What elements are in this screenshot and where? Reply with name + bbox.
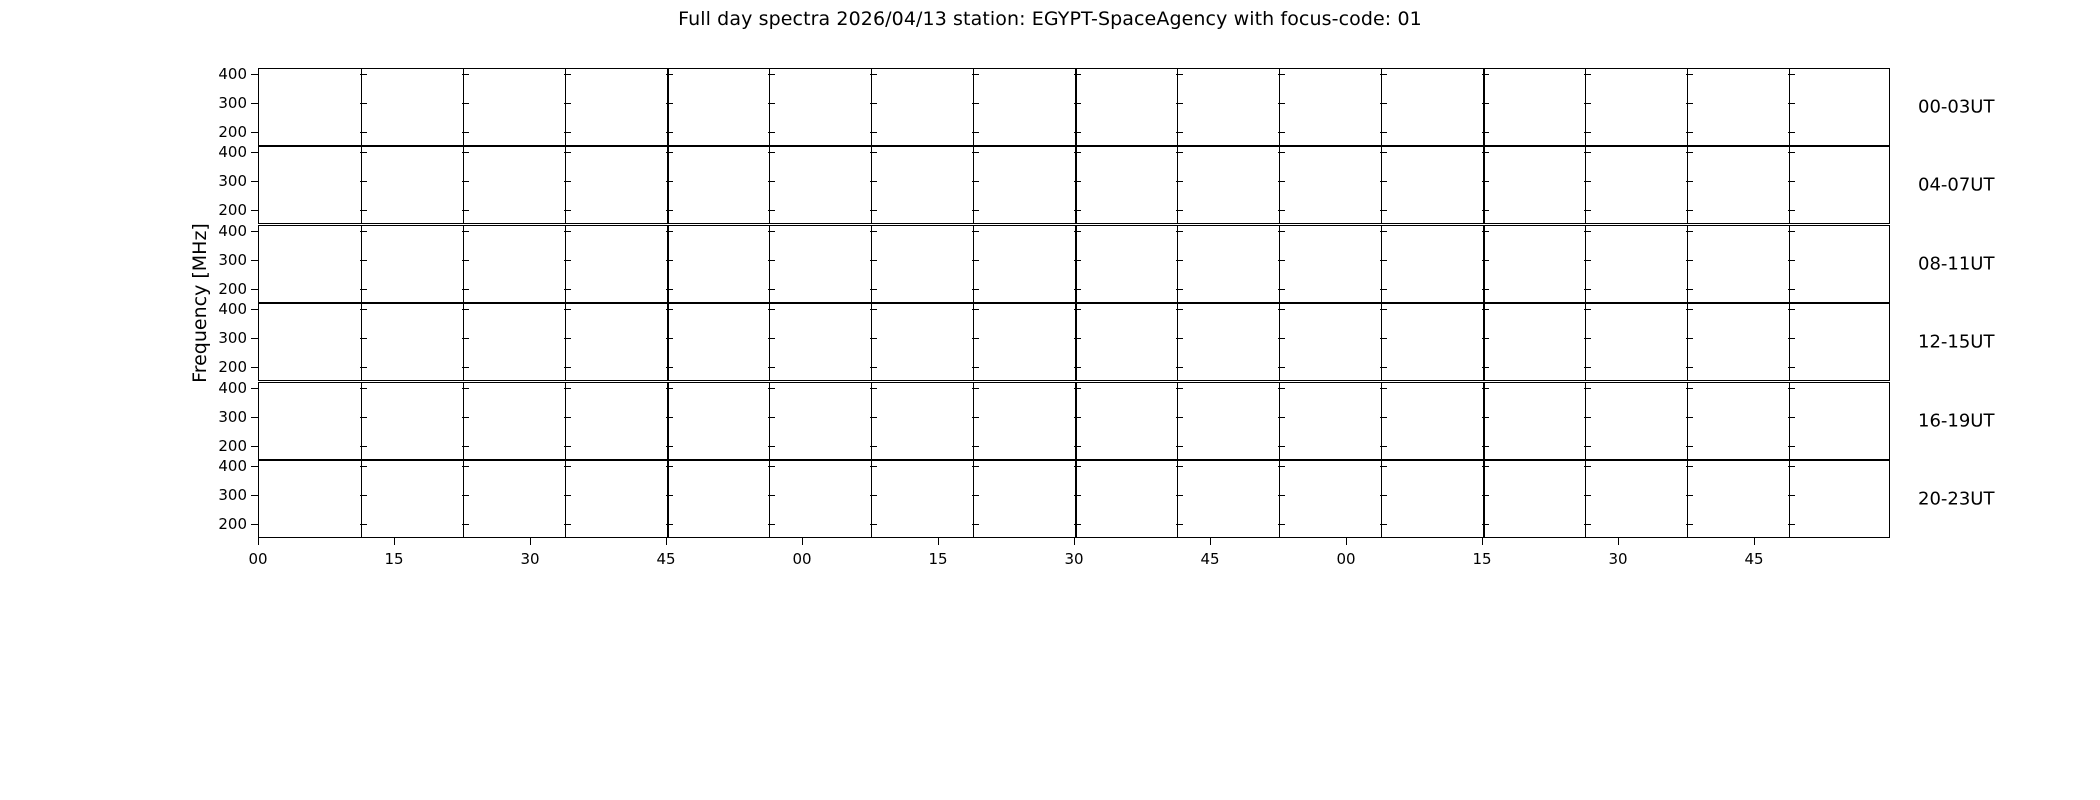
y-tick-inner [1176,495,1183,496]
spectrogram-row-16-19ut: 40030020016-19UT [258,382,1890,460]
y-tick-inner [768,446,775,447]
x-tick-mark [1074,538,1075,545]
y-tick-mark [251,388,258,389]
y-tick-inner [564,446,571,447]
cell-separator [1585,461,1586,537]
y-tick-inner [870,338,877,339]
x-tick-mark [530,538,531,545]
x-tick-label: 45 [656,550,675,568]
y-tick-inner [1074,466,1081,467]
cell-separator [871,383,872,459]
cell-separator [361,226,362,302]
y-tick-inner [1380,495,1387,496]
y-tick-inner [768,495,775,496]
cell-separator [973,147,974,223]
y-tick-inner [1074,417,1081,418]
y-tick-inner [1176,132,1183,133]
y-tick-inner [1380,338,1387,339]
y-tick-inner [1482,152,1489,153]
y-tick-inner [1074,446,1081,447]
cell-separator [1279,304,1280,380]
row-plot-area[interactable] [258,146,1890,224]
cell-separator [463,461,464,537]
cell-separator [667,226,669,302]
y-tick-inner [1278,367,1285,368]
y-tick-inner [666,132,673,133]
y-tick-inner [1278,446,1285,447]
cell-separator [463,147,464,223]
cell-separator [973,383,974,459]
y-tick-inner [1584,338,1591,339]
y-tick-inner [1278,338,1285,339]
y-tick-inner [1074,309,1081,310]
y-tick-inner [564,152,571,153]
y-tick-inner [462,231,469,232]
y-tick-label: 300 [218,329,247,347]
y-tick-inner [462,495,469,496]
y-tick-inner [666,466,673,467]
cell-separator [463,304,464,380]
y-tick-label: 400 [218,222,247,240]
y-tick-mark [251,152,258,153]
cell-separator [1789,147,1790,223]
y-tick-inner [1788,132,1795,133]
cell-separator [1075,461,1077,537]
y-tick-inner [1176,210,1183,211]
y-tick-inner [870,417,877,418]
cell-separator [667,147,669,223]
y-tick-inner [870,74,877,75]
y-tick-inner [1482,260,1489,261]
y-tick-inner [1686,260,1693,261]
y-tick-inner [1074,367,1081,368]
y-tick-label: 400 [218,457,247,475]
y-tick-inner [1176,417,1183,418]
cell-separator [1789,461,1790,537]
row-plot-area[interactable] [258,382,1890,460]
row-label-20-23ut: 20-23UT [1918,489,1994,510]
y-tick-inner [768,152,775,153]
y-tick-inner [1074,210,1081,211]
y-tick-inner [870,103,877,104]
y-tick-inner [1482,210,1489,211]
y-tick-inner [1686,74,1693,75]
y-tick-inner [972,524,979,525]
cell-separator [1585,383,1586,459]
y-tick-mark [251,132,258,133]
y-tick-inner [1176,289,1183,290]
y-tick-inner [1788,260,1795,261]
y-tick-inner [972,309,979,310]
x-tick-label: 30 [1064,550,1083,568]
cell-separator [871,226,872,302]
y-tick-inner [768,260,775,261]
y-tick-inner [1278,289,1285,290]
cell-separator [1585,69,1586,145]
y-tick-inner [768,367,775,368]
y-tick-inner [360,132,367,133]
y-tick-inner [972,338,979,339]
y-tick-inner [1074,260,1081,261]
y-tick-inner [1584,74,1591,75]
y-tick-inner [1278,103,1285,104]
y-tick-inner [666,260,673,261]
y-tick-inner [1686,309,1693,310]
cell-separator [1687,304,1688,380]
y-tick-inner [462,181,469,182]
cell-separator [1585,304,1586,380]
cell-separator [1381,226,1382,302]
y-tick-inner [1176,367,1183,368]
y-tick-inner [1482,231,1489,232]
cell-separator [1483,69,1485,145]
y-tick-inner [1176,74,1183,75]
y-tick-inner [564,309,571,310]
y-tick-inner [972,231,979,232]
y-tick-label: 200 [218,437,247,455]
y-tick-label: 400 [218,379,247,397]
y-tick-inner [1380,103,1387,104]
y-tick-inner [564,338,571,339]
y-tick-inner [1482,524,1489,525]
y-tick-inner [768,289,775,290]
y-tick-inner [1380,524,1387,525]
y-tick-inner [972,417,979,418]
y-tick-inner [1788,446,1795,447]
cell-separator [973,69,974,145]
y-tick-inner [1176,309,1183,310]
y-tick-mark [251,289,258,290]
y-tick-mark [251,495,258,496]
y-tick-inner [666,289,673,290]
figure-title: Full day spectra 2026/04/13 station: EGY… [0,8,2100,30]
cell-separator [973,226,974,302]
y-tick-inner [1686,289,1693,290]
cell-separator [1687,69,1688,145]
y-tick-inner [360,388,367,389]
cell-separator [1279,147,1280,223]
row-label-04-07ut: 04-07UT [1918,175,1994,196]
y-tick-inner [1380,289,1387,290]
y-tick-inner [1482,103,1489,104]
y-tick-inner [360,74,367,75]
x-tick-mark [802,538,803,545]
y-tick-label: 200 [218,358,247,376]
row-plot-area[interactable] [258,460,1890,538]
y-tick-mark [251,260,258,261]
row-plot-area[interactable] [258,225,1890,303]
y-tick-inner [462,152,469,153]
cell-separator [1687,147,1688,223]
y-tick-label: 200 [218,123,247,141]
cell-separator [565,383,566,459]
cell-separator [1279,461,1280,537]
y-tick-mark [251,231,258,232]
x-tick-mark [258,538,259,545]
y-tick-inner [360,524,367,525]
y-tick-inner [1788,417,1795,418]
y-tick-inner [564,367,571,368]
x-tick-label: 15 [384,550,403,568]
y-tick-inner [1788,338,1795,339]
y-tick-inner [1584,524,1591,525]
y-tick-inner [972,103,979,104]
y-tick-inner [972,132,979,133]
y-tick-inner [666,495,673,496]
spectrogram-row-20-23ut: 40030020020-23UT [258,460,1890,538]
y-tick-inner [972,495,979,496]
y-tick-inner [1584,231,1591,232]
cell-separator [1381,304,1382,380]
y-tick-inner [360,367,367,368]
y-tick-label: 400 [218,65,247,83]
x-tick-label: 30 [520,550,539,568]
y-tick-inner [666,74,673,75]
y-tick-inner [1686,338,1693,339]
y-tick-inner [972,289,979,290]
x-tick-mark [938,538,939,545]
y-tick-inner [1584,181,1591,182]
y-tick-inner [1380,466,1387,467]
y-tick-inner [1584,417,1591,418]
y-tick-inner [360,446,367,447]
cell-separator [1279,226,1280,302]
y-tick-inner [666,524,673,525]
y-tick-label: 200 [218,201,247,219]
y-tick-inner [564,524,571,525]
y-tick-label: 200 [218,280,247,298]
cell-separator [1789,226,1790,302]
y-tick-inner [870,210,877,211]
y-tick-inner [360,103,367,104]
y-tick-inner [462,446,469,447]
y-tick-inner [1788,309,1795,310]
x-tick-mark [1346,538,1347,545]
y-tick-inner [666,210,673,211]
cell-separator [1075,304,1077,380]
x-tick-label: 15 [1472,550,1491,568]
y-tick-inner [1686,231,1693,232]
cell-separator [1177,304,1178,380]
y-tick-inner [1584,152,1591,153]
y-tick-inner [870,309,877,310]
y-tick-label: 300 [218,251,247,269]
cell-separator [1687,226,1688,302]
y-tick-inner [1176,152,1183,153]
cell-separator [1789,383,1790,459]
y-tick-inner [462,260,469,261]
y-tick-inner [1278,417,1285,418]
y-tick-inner [768,231,775,232]
y-tick-inner [1686,388,1693,389]
y-tick-label: 300 [218,172,247,190]
y-tick-inner [1482,417,1489,418]
y-tick-inner [768,338,775,339]
y-tick-inner [1686,132,1693,133]
cell-separator [1381,383,1382,459]
y-tick-inner [666,388,673,389]
cell-separator [1075,226,1077,302]
y-tick-inner [666,152,673,153]
y-tick-inner [1788,181,1795,182]
y-tick-inner [1278,495,1285,496]
cell-separator [769,304,770,380]
y-tick-inner [1278,524,1285,525]
y-tick-inner [564,231,571,232]
y-tick-inner [1380,74,1387,75]
y-tick-inner [870,367,877,368]
y-tick-inner [360,495,367,496]
y-tick-inner [972,181,979,182]
y-tick-inner [870,388,877,389]
y-tick-inner [1788,524,1795,525]
cell-separator [1075,69,1077,145]
y-tick-inner [870,524,877,525]
y-tick-inner [1278,181,1285,182]
y-tick-inner [1482,309,1489,310]
y-tick-inner [360,289,367,290]
y-tick-inner [360,231,367,232]
cell-separator [667,69,669,145]
y-tick-inner [1482,74,1489,75]
y-tick-inner [1176,338,1183,339]
y-tick-inner [462,210,469,211]
y-tick-inner [1584,103,1591,104]
cell-separator [1687,461,1688,537]
y-tick-inner [462,103,469,104]
row-plot-area[interactable] [258,68,1890,146]
y-tick-inner [462,132,469,133]
cell-separator [1279,383,1280,459]
cell-separator [1483,226,1485,302]
y-tick-mark [251,524,258,525]
cell-separator [667,383,669,459]
y-tick-inner [1380,260,1387,261]
y-tick-inner [1278,260,1285,261]
x-tick-mark [394,538,395,545]
cell-separator [667,461,669,537]
y-tick-inner [1686,495,1693,496]
cell-separator [1177,69,1178,145]
y-tick-inner [1380,367,1387,368]
y-tick-inner [1686,446,1693,447]
y-tick-inner [462,466,469,467]
y-tick-inner [972,446,979,447]
y-tick-inner [462,338,469,339]
y-tick-inner [1584,446,1591,447]
cell-separator [667,304,669,380]
row-label-16-19ut: 16-19UT [1918,411,1994,432]
x-tick-label: 00 [248,550,267,568]
row-label-00-03ut: 00-03UT [1918,97,1994,118]
y-tick-inner [1074,231,1081,232]
y-tick-inner [972,74,979,75]
y-tick-label: 400 [218,300,247,318]
y-tick-inner [666,231,673,232]
y-tick-inner [1176,446,1183,447]
y-tick-inner [1584,132,1591,133]
cell-separator [1177,461,1178,537]
y-tick-inner [768,210,775,211]
cell-separator [361,69,362,145]
cell-separator [565,69,566,145]
y-tick-inner [1788,466,1795,467]
y-tick-mark [251,417,258,418]
y-tick-inner [462,289,469,290]
y-tick-inner [1380,181,1387,182]
y-tick-inner [1380,417,1387,418]
y-tick-inner [1788,495,1795,496]
cell-separator [871,304,872,380]
cell-separator [565,304,566,380]
cell-separator [1177,226,1178,302]
x-tick-label: 15 [928,550,947,568]
y-tick-inner [870,260,877,261]
y-tick-inner [1278,210,1285,211]
x-tick-mark [1482,538,1483,545]
y-tick-mark [251,338,258,339]
y-tick-inner [666,367,673,368]
cell-separator [1075,147,1077,223]
cell-separator [769,226,770,302]
y-tick-inner [1176,388,1183,389]
y-tick-inner [666,446,673,447]
cell-separator [361,461,362,537]
row-label-08-11ut: 08-11UT [1918,254,1994,275]
y-tick-inner [1380,132,1387,133]
cell-separator [1483,461,1485,537]
y-tick-inner [564,181,571,182]
y-tick-inner [666,309,673,310]
y-tick-inner [1584,260,1591,261]
y-tick-inner [1686,181,1693,182]
y-tick-inner [1482,446,1489,447]
x-tick-mark [1754,538,1755,545]
y-axis-label: Frequency [MHz] [189,153,211,453]
cell-separator [769,69,770,145]
y-tick-inner [1788,388,1795,389]
y-tick-inner [1278,309,1285,310]
spectrogram-row-12-15ut: 40030020012-15UT [258,303,1890,381]
y-tick-inner [1584,210,1591,211]
y-tick-inner [360,210,367,211]
y-tick-inner [1482,388,1489,389]
y-tick-inner [1482,338,1489,339]
y-tick-inner [1278,74,1285,75]
row-plot-area[interactable] [258,303,1890,381]
y-tick-inner [1482,181,1489,182]
cell-separator [565,147,566,223]
y-tick-inner [870,495,877,496]
cell-separator [565,226,566,302]
cell-separator [1177,383,1178,459]
y-tick-inner [666,338,673,339]
y-tick-inner [1788,152,1795,153]
y-tick-inner [1788,289,1795,290]
y-tick-mark [251,103,258,104]
cell-separator [871,461,872,537]
x-tick-mark [1618,538,1619,545]
y-tick-mark [251,367,258,368]
y-tick-inner [972,388,979,389]
cell-separator [1483,383,1485,459]
cell-separator [361,304,362,380]
cell-separator [361,383,362,459]
y-tick-inner [564,417,571,418]
y-tick-inner [1176,231,1183,232]
y-tick-inner [1176,103,1183,104]
cell-separator [361,147,362,223]
